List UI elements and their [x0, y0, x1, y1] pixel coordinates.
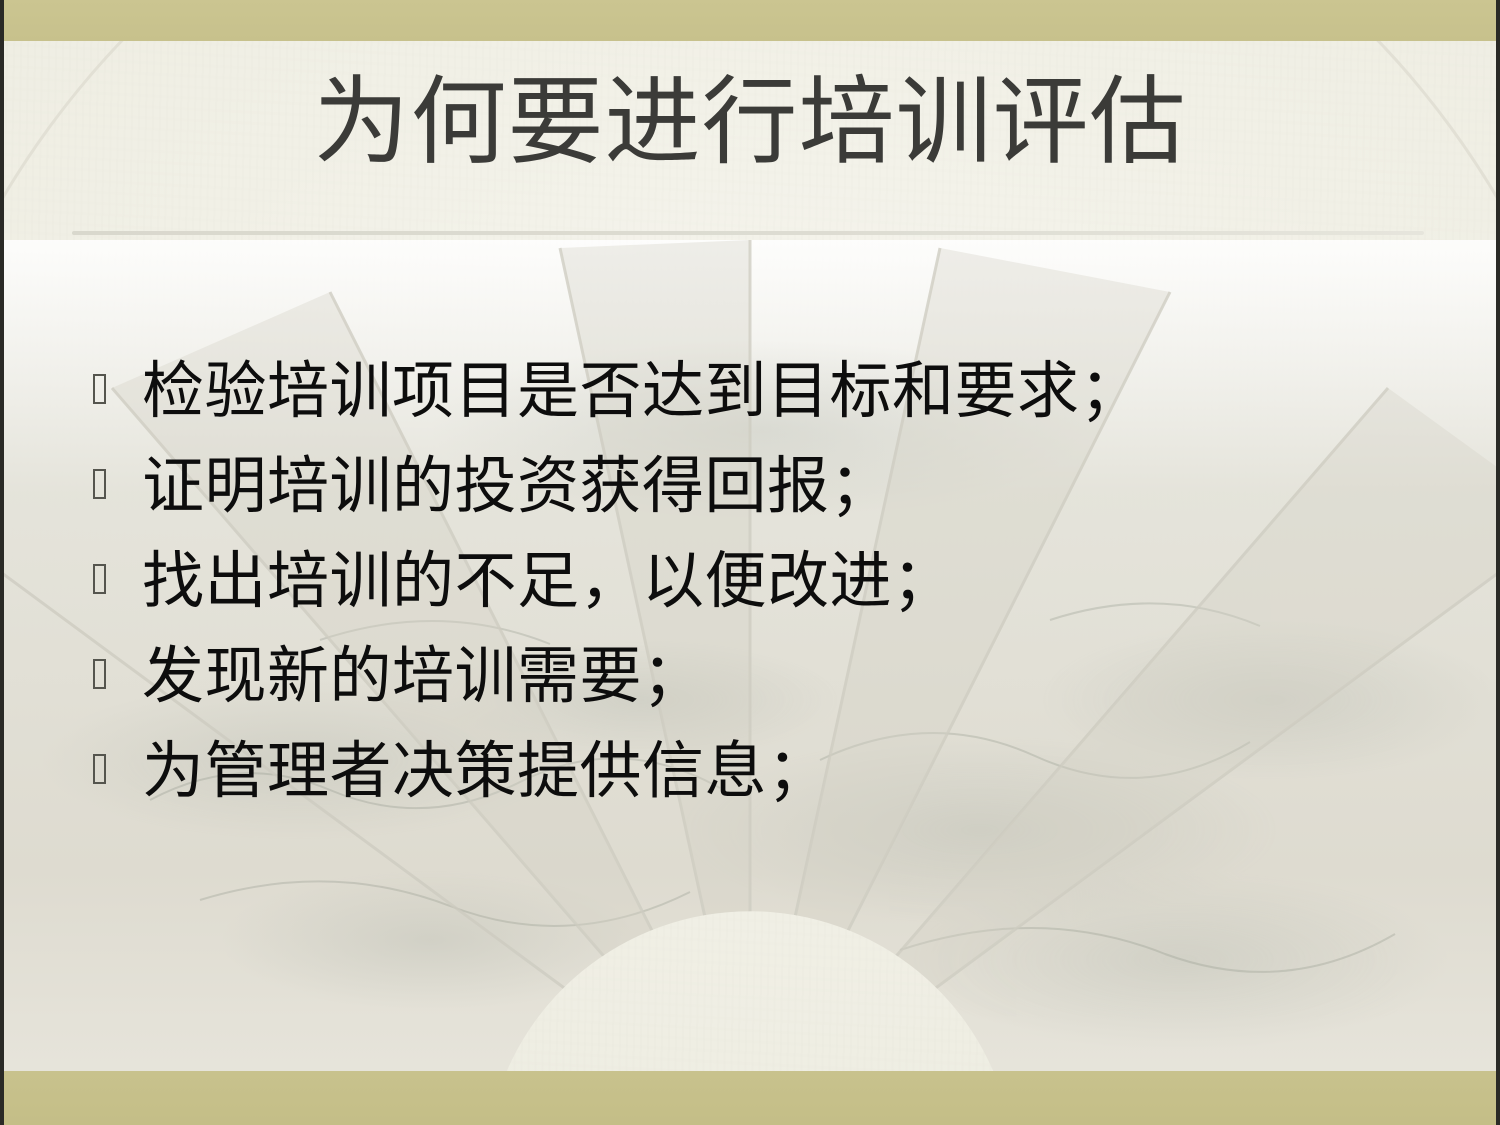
list-item: 检验培训项目是否达到目标和要求； — [72, 358, 1432, 453]
bullet-marker-icon — [88, 374, 110, 410]
list-item-label: 发现新的培训需要； — [142, 643, 1432, 711]
left-border — [0, 0, 4, 1125]
list-item-label: 证明培训的投资获得回报； — [142, 453, 1432, 521]
list-item-label: 检验培训项目是否达到目标和要求； — [142, 358, 1432, 426]
bullet-marker-icon — [88, 469, 110, 505]
slide-title: 为何要进行培训评估 — [70, 72, 1430, 174]
list-item-label: 找出培训的不足，以便改进； — [142, 548, 1432, 616]
list-item-label: 为管理者决策提供信息； — [142, 738, 1432, 806]
list-item: 为管理者决策提供信息； — [72, 738, 1432, 833]
list-item: 找出培训的不足，以便改进； — [72, 548, 1432, 643]
top-accent-band — [0, 0, 1500, 41]
bullet-marker-icon — [88, 564, 110, 600]
right-border — [1496, 0, 1500, 1125]
title-underline-rule — [72, 231, 1424, 235]
bottom-accent-band — [0, 1071, 1500, 1125]
list-item: 证明培训的投资获得回报； — [72, 453, 1432, 548]
bullet-marker-icon — [88, 659, 110, 695]
bullet-marker-icon — [88, 754, 110, 790]
presentation-slide: 为何要进行培训评估 检验培训项目是否达到目标和要求； 证明培训的投资获得回报； … — [0, 0, 1500, 1125]
bullet-list: 检验培训项目是否达到目标和要求； 证明培训的投资获得回报； 找出培训的不足，以便… — [72, 358, 1432, 833]
list-item: 发现新的培训需要； — [72, 643, 1432, 738]
